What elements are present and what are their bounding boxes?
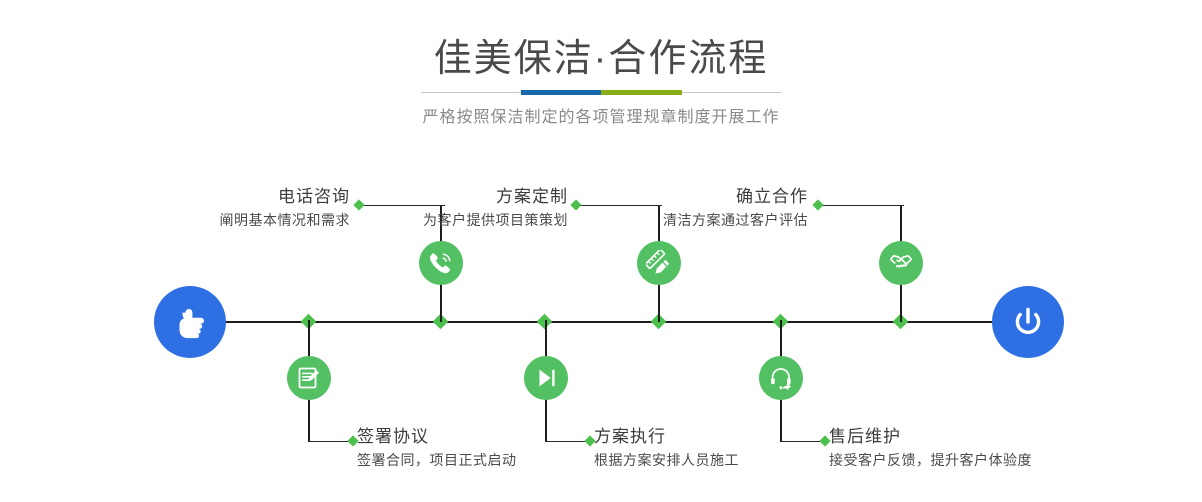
step-5-elbow <box>812 200 904 212</box>
title-divider <box>0 88 1202 98</box>
step-5-desc: 清洁方案通过客户评估 <box>600 210 808 230</box>
pencil-ruler-icon <box>646 250 672 276</box>
step-3-icon-node <box>637 241 681 285</box>
step-3-label: 方案定制 为客户提供项目策策划 <box>360 186 568 230</box>
step-6-title: 售后维护 <box>829 426 1109 448</box>
divider-green-segment <box>601 90 682 95</box>
step-5-title: 确立合作 <box>600 186 808 208</box>
page-title: 佳美保洁·合作流程 <box>0 36 1202 82</box>
step-1-icon-node <box>419 241 463 285</box>
step-6-elbow <box>777 436 833 448</box>
step-2-desc: 签署合同，项目正式启动 <box>357 450 617 470</box>
step-2-label: 签署协议 签署合同，项目正式启动 <box>357 426 617 470</box>
step-4-label: 方案执行 根据方案安排人员施工 <box>594 426 854 470</box>
power-icon <box>1007 301 1049 343</box>
step-1-desc: 阐明基本情况和需求 <box>150 210 350 230</box>
headset-support-icon <box>768 365 794 391</box>
step-4-desc: 根据方案安排人员施工 <box>594 450 854 470</box>
step-2-elbow <box>305 436 361 448</box>
step-1-title: 电话咨询 <box>150 186 350 208</box>
timeline-end-marker <box>992 286 1064 358</box>
pointing-hand-icon <box>170 302 210 342</box>
step-2-icon-node <box>287 356 331 400</box>
handshake-icon <box>888 250 914 276</box>
step-4-icon-node <box>524 356 568 400</box>
divider-blue-segment <box>521 90 601 95</box>
play-execute-icon <box>533 365 559 391</box>
phone-call-icon <box>428 250 454 276</box>
process-flow-infographic: 佳美保洁·合作流程 严格按照保洁制定的各项管理规章制度开展工作 <box>0 0 1202 502</box>
step-5-label: 确立合作 清洁方案通过客户评估 <box>600 186 808 230</box>
page-subtitle: 严格按照保洁制定的各项管理规章制度开展工作 <box>0 107 1202 129</box>
sign-document-icon <box>296 365 322 391</box>
step-5-icon-node <box>879 241 923 285</box>
step-3-desc: 为客户提供项目策策划 <box>360 210 568 230</box>
step-4-elbow <box>542 436 598 448</box>
step-6-icon-node <box>759 356 803 400</box>
timeline-start-marker <box>154 286 226 358</box>
step-6-label: 售后维护 接受客户反馈，提升客户体验度 <box>829 426 1109 470</box>
step-3-title: 方案定制 <box>360 186 568 208</box>
step-1-label: 电话咨询 阐明基本情况和需求 <box>150 186 350 230</box>
step-6-desc: 接受客户反馈，提升客户体验度 <box>829 450 1109 470</box>
